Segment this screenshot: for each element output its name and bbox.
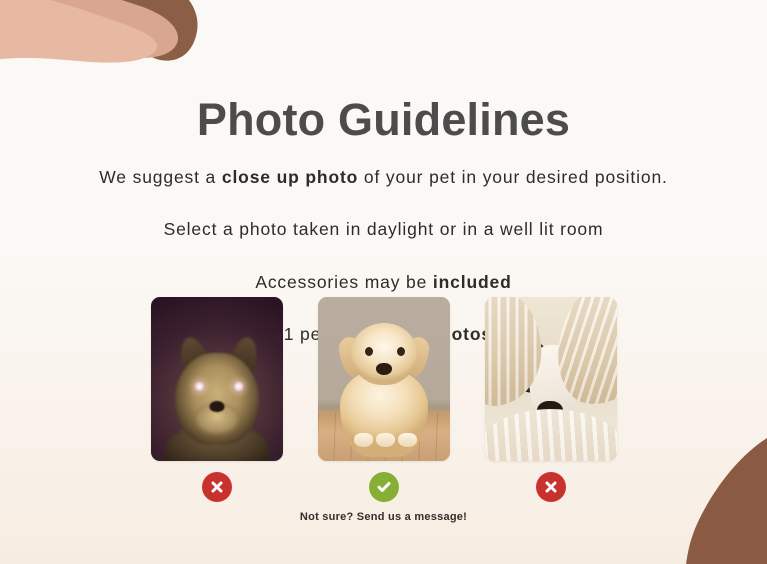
verdict-badge-row (0, 471, 767, 503)
puppy-nose (376, 363, 392, 375)
cross-icon (543, 479, 559, 495)
puppy-paw (354, 433, 373, 447)
puppy-paw (398, 433, 417, 447)
example-photo-daylight[interactable] (318, 297, 450, 461)
blob-top-dark-icon (86, 0, 198, 61)
blob-top-mid-icon (0, 0, 178, 58)
cross-icon (209, 479, 225, 495)
dark-dog-photo (151, 297, 283, 461)
guideline-text: of your pet in your desired position. (358, 167, 668, 187)
guideline-text: Accessories may be (255, 272, 433, 292)
blob-top-light-icon (0, 0, 157, 66)
example-photo-obscured[interactable] (485, 297, 617, 461)
contact-support-link[interactable]: Not sure? Send us a message! (0, 511, 767, 523)
dog-eye-right (233, 381, 244, 392)
puppy-paw (376, 433, 395, 447)
guideline-text: Select a photo taken in daylight or in a… (164, 219, 604, 239)
check-icon (375, 478, 393, 496)
dog-eye-left (194, 381, 205, 392)
guideline-emphasis: close up photo (222, 167, 358, 187)
puppy-head (351, 323, 417, 385)
guideline-accessories: Accessories may be included (0, 265, 767, 300)
status-badge-approved (369, 472, 399, 502)
guideline-daylight: Select a photo taken in daylight or in a… (0, 212, 767, 247)
puppy-photo (318, 297, 450, 461)
guideline-close-up: We suggest a close up photo of your pet … (0, 160, 767, 195)
photo-guidelines-screen: Photo Guidelines We suggest a close up p… (0, 0, 767, 564)
guideline-emphasis: included (433, 272, 512, 292)
verdict-slot-daylight (318, 472, 450, 502)
status-badge-rejected (536, 472, 566, 502)
example-photo-dark[interactable] (151, 297, 283, 461)
verdict-slot-dark (151, 472, 283, 502)
dog-nose (209, 401, 224, 412)
puppy-eye-right (397, 347, 405, 356)
example-photo-row (0, 297, 767, 465)
verdict-slot-obscured (485, 472, 617, 502)
status-badge-rejected (202, 472, 232, 502)
blanket-dog-photo (485, 297, 617, 461)
puppy-eye-left (365, 347, 373, 356)
page-title: Photo Guidelines (0, 94, 767, 146)
guideline-text: We suggest a (99, 167, 222, 187)
blanket-fold (485, 409, 617, 461)
